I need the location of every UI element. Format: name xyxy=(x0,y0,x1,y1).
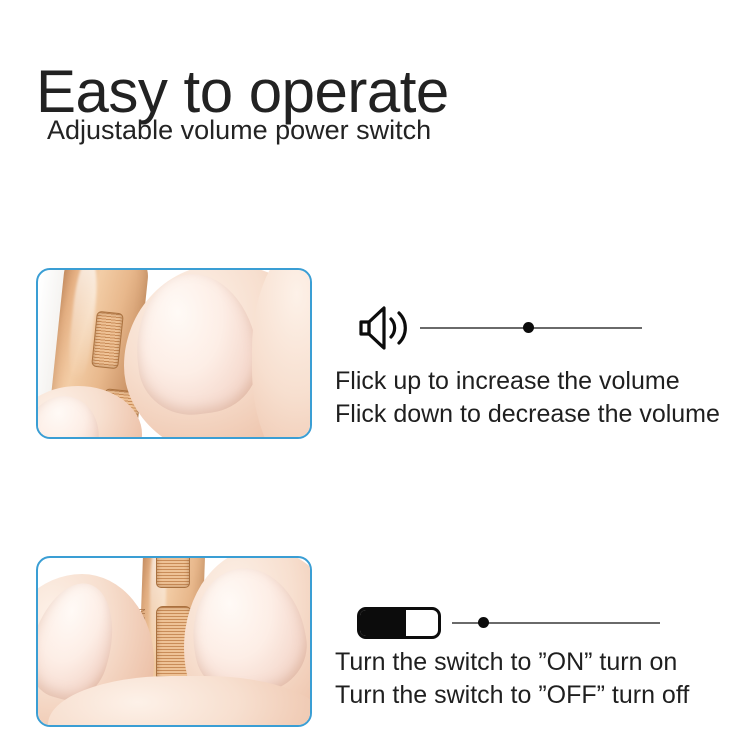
volume-caption: Flick up to increase the volume Flick do… xyxy=(335,365,735,431)
toggle-switch-icon[interactable] xyxy=(357,607,441,639)
volume-slider-knob[interactable] xyxy=(523,322,534,333)
photo-frame-power: ON OFF xyxy=(36,556,312,727)
power-control-row xyxy=(334,553,734,615)
volume-caption-line-2: Flick down to decrease the volume xyxy=(335,398,735,431)
product-photo-power: ON OFF xyxy=(38,558,310,725)
power-caption-line-2: Turn the switch to ”OFF” turn off xyxy=(335,679,735,712)
page-subtitle: Adjustable volume power switch xyxy=(47,112,431,148)
speaker-volume-icon xyxy=(358,306,414,350)
feature-detail-volume: Flick up to increase the volume Flick do… xyxy=(334,265,734,327)
photo-frame-volume: ON xyxy=(36,268,312,439)
product-photo-volume: ON xyxy=(38,270,310,437)
power-caption-line-1: Turn the switch to ”ON” turn on xyxy=(335,646,735,679)
power-slider[interactable] xyxy=(452,613,660,633)
volume-caption-line-1: Flick up to increase the volume xyxy=(335,365,735,398)
volume-slider[interactable] xyxy=(420,318,642,338)
toggle-switch-knob[interactable] xyxy=(360,610,406,636)
feature-detail-power: Turn the switch to ”ON” turn on Turn the… xyxy=(334,553,734,615)
volume-control-row xyxy=(334,265,734,327)
power-caption: Turn the switch to ”ON” turn on Turn the… xyxy=(335,646,735,712)
power-slider-knob[interactable] xyxy=(478,617,489,628)
photo-volume-wheel xyxy=(156,558,190,588)
photo-background-skin xyxy=(252,270,310,437)
